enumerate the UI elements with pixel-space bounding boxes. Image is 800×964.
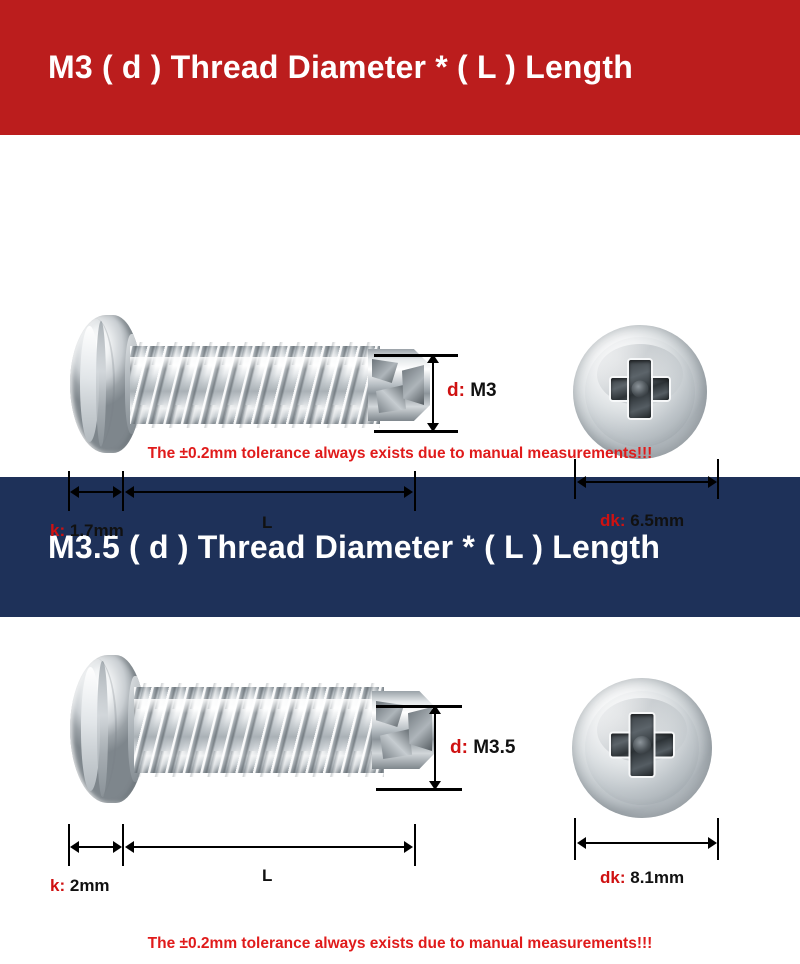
d-extension-line-top-m35	[376, 705, 462, 708]
dk-witness-line-left-m35	[574, 818, 576, 860]
d-label-value: M3.5	[473, 737, 515, 758]
screw-shank-threaded-m3	[130, 346, 380, 424]
arrow-shaft	[432, 360, 434, 426]
k-label-key: k:	[50, 876, 65, 895]
screw-shank-threaded-m35	[134, 687, 384, 773]
arrow-shaft	[76, 491, 116, 493]
arrow-shaft	[76, 846, 116, 848]
d-label-key: d:	[450, 737, 468, 758]
d-extension-line-bottom-m3	[374, 430, 458, 433]
phillips-center-point	[633, 736, 651, 754]
screw-self-tapping-tip-m3	[368, 349, 430, 421]
k-label-value: 1.7mm	[70, 521, 124, 540]
d-extension-line-bottom-m35	[376, 788, 462, 791]
k-witness-line-right-m35	[122, 824, 124, 866]
tolerance-note-m3: The ±0.2mm tolerance always exists due t…	[0, 445, 800, 463]
shank-sheen	[130, 357, 380, 369]
tip-notch-2	[380, 729, 412, 759]
dk-label-m3: dk: 6.5mm	[600, 511, 684, 531]
d-extension-line-top-m3	[374, 354, 458, 357]
dk-label-value: 6.5mm	[630, 511, 684, 530]
screw-top-view-m3	[573, 325, 707, 459]
dk-label-key: dk:	[600, 511, 626, 530]
section-2-body: d: M3.5 L k: 2mm dk: 8.1mm	[0, 617, 800, 964]
arrow-shaft	[583, 481, 711, 483]
k-dimension-arrow-m3	[70, 485, 122, 499]
dk-dimension-arrow-m3	[577, 475, 717, 489]
l-label-m35: L	[262, 866, 272, 886]
head-flange-edge	[74, 318, 114, 450]
arrow-head-right	[404, 486, 413, 498]
head-flange-edge	[75, 658, 118, 800]
phillips-cross-recess-m3	[609, 358, 671, 420]
l-label-m3: L	[262, 513, 272, 533]
arrow-shaft	[131, 846, 407, 848]
tolerance-note-m35: The ±0.2mm tolerance always exists due t…	[0, 935, 800, 953]
section-1-banner: M3 ( d ) Thread Diameter * ( L ) Length	[0, 0, 800, 135]
d-dimension-arrow-m3	[426, 354, 440, 432]
screw-side-view-m3	[68, 313, 428, 455]
l-dimension-arrow-m35	[125, 840, 413, 854]
arrow-shaft	[131, 491, 407, 493]
arrow-head-bottom	[427, 423, 439, 432]
section-1-body: d: M3 L k: 1.7mm dk: 6.5mm	[0, 135, 800, 477]
arrow-head-right	[708, 476, 717, 488]
dk-label-key: dk:	[600, 868, 626, 887]
dk-label-value: 8.1mm	[630, 868, 684, 887]
k-witness-line-right-m3	[122, 471, 124, 511]
section-2-banner-title: M3.5 ( d ) Thread Diameter * ( L ) Lengt…	[48, 529, 660, 566]
k-dimension-arrow-m35	[70, 840, 122, 854]
l-witness-line-right-m35	[414, 824, 416, 866]
arrow-head-bottom	[429, 781, 441, 790]
k-label-value: 2mm	[70, 876, 110, 895]
dk-witness-line-left-m3	[574, 459, 576, 499]
d-label-value: M3	[470, 380, 496, 401]
k-label-m35: k: 2mm	[50, 876, 110, 896]
screw-side-view-m35	[68, 653, 438, 805]
dk-dimension-arrow-m35	[577, 836, 717, 850]
dk-label-m35: dk: 8.1mm	[600, 868, 684, 888]
k-label-key: k:	[50, 521, 65, 540]
arrow-shaft	[434, 711, 436, 784]
thread-crests-lower	[134, 751, 384, 777]
d-dimension-arrow-m35	[428, 705, 442, 790]
d-label-key: d:	[447, 380, 465, 401]
thread-crests-lower	[130, 405, 380, 428]
section-1-banner-title: M3 ( d ) Thread Diameter * ( L ) Length	[48, 49, 633, 86]
k-label-m3: k: 1.7mm	[50, 521, 124, 541]
tip-notch-1	[372, 359, 398, 383]
phillips-cross-recess-m35	[609, 712, 675, 778]
phillips-center-point	[632, 381, 649, 398]
arrow-head-right	[404, 841, 413, 853]
d-label-m3: d: M3	[447, 380, 497, 402]
screw-top-view-m35	[572, 678, 712, 818]
l-witness-line-right-m3	[414, 471, 416, 511]
tip-notch-2	[376, 385, 406, 413]
dk-witness-line-right-m35	[717, 818, 719, 860]
arrow-head-right	[708, 837, 717, 849]
l-dimension-arrow-m3	[125, 485, 413, 499]
dk-witness-line-right-m3	[717, 459, 719, 499]
arrow-head-right	[113, 841, 122, 853]
arrow-head-right	[113, 486, 122, 498]
screw-self-tapping-tip-m35	[372, 691, 436, 769]
tip-notch-3	[402, 365, 424, 405]
arrow-shaft	[583, 842, 711, 844]
shank-sheen	[134, 699, 384, 713]
d-label-m35: d: M3.5	[450, 737, 515, 759]
